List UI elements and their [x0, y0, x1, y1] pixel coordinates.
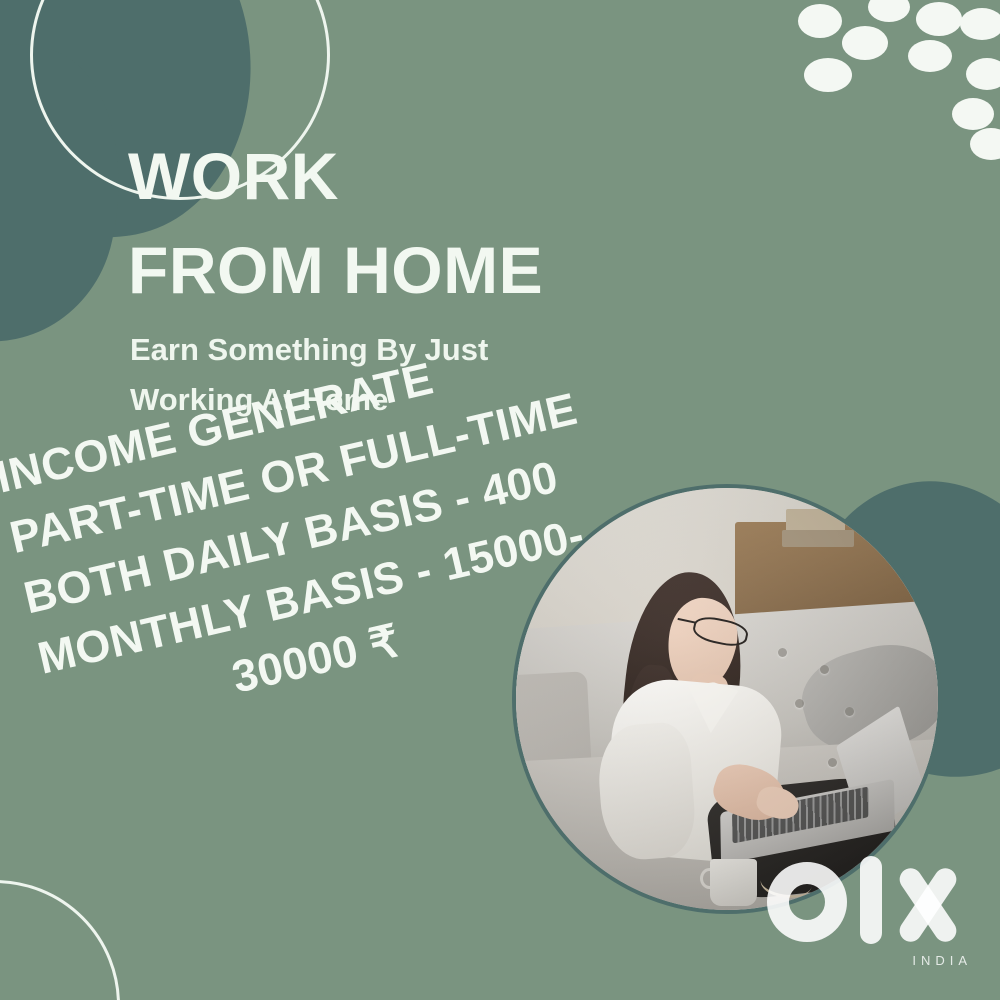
- poster-canvas: WORK FROM HOME Earn Something By Just Wo…: [0, 0, 1000, 1000]
- olx-letter-l-icon: [860, 856, 882, 944]
- decor-dot: [798, 4, 842, 38]
- decor-dot: [952, 98, 994, 130]
- olx-letter-x-icon: [891, 866, 967, 944]
- circle-outline-bottom: [0, 880, 120, 1000]
- decor-dot: [966, 58, 1000, 90]
- olx-region-label: INDIA: [912, 953, 972, 968]
- room-books-2: [782, 530, 854, 547]
- decor-dot: [916, 2, 962, 36]
- decor-dot: [804, 58, 852, 92]
- decor-dot: [908, 40, 952, 72]
- headline-line-1: WORK: [128, 130, 828, 224]
- decor-dot: [970, 128, 1000, 160]
- olx-letter-o-icon: [767, 862, 847, 942]
- headline-line-2: FROM HOME: [128, 224, 828, 318]
- decor-dot: [842, 26, 888, 60]
- olx-watermark: INDIA: [763, 852, 978, 970]
- coffee-mug: [710, 859, 756, 905]
- decor-dot: [868, 0, 910, 22]
- decor-dot: [960, 8, 1000, 40]
- headline: WORK FROM HOME: [128, 130, 828, 317]
